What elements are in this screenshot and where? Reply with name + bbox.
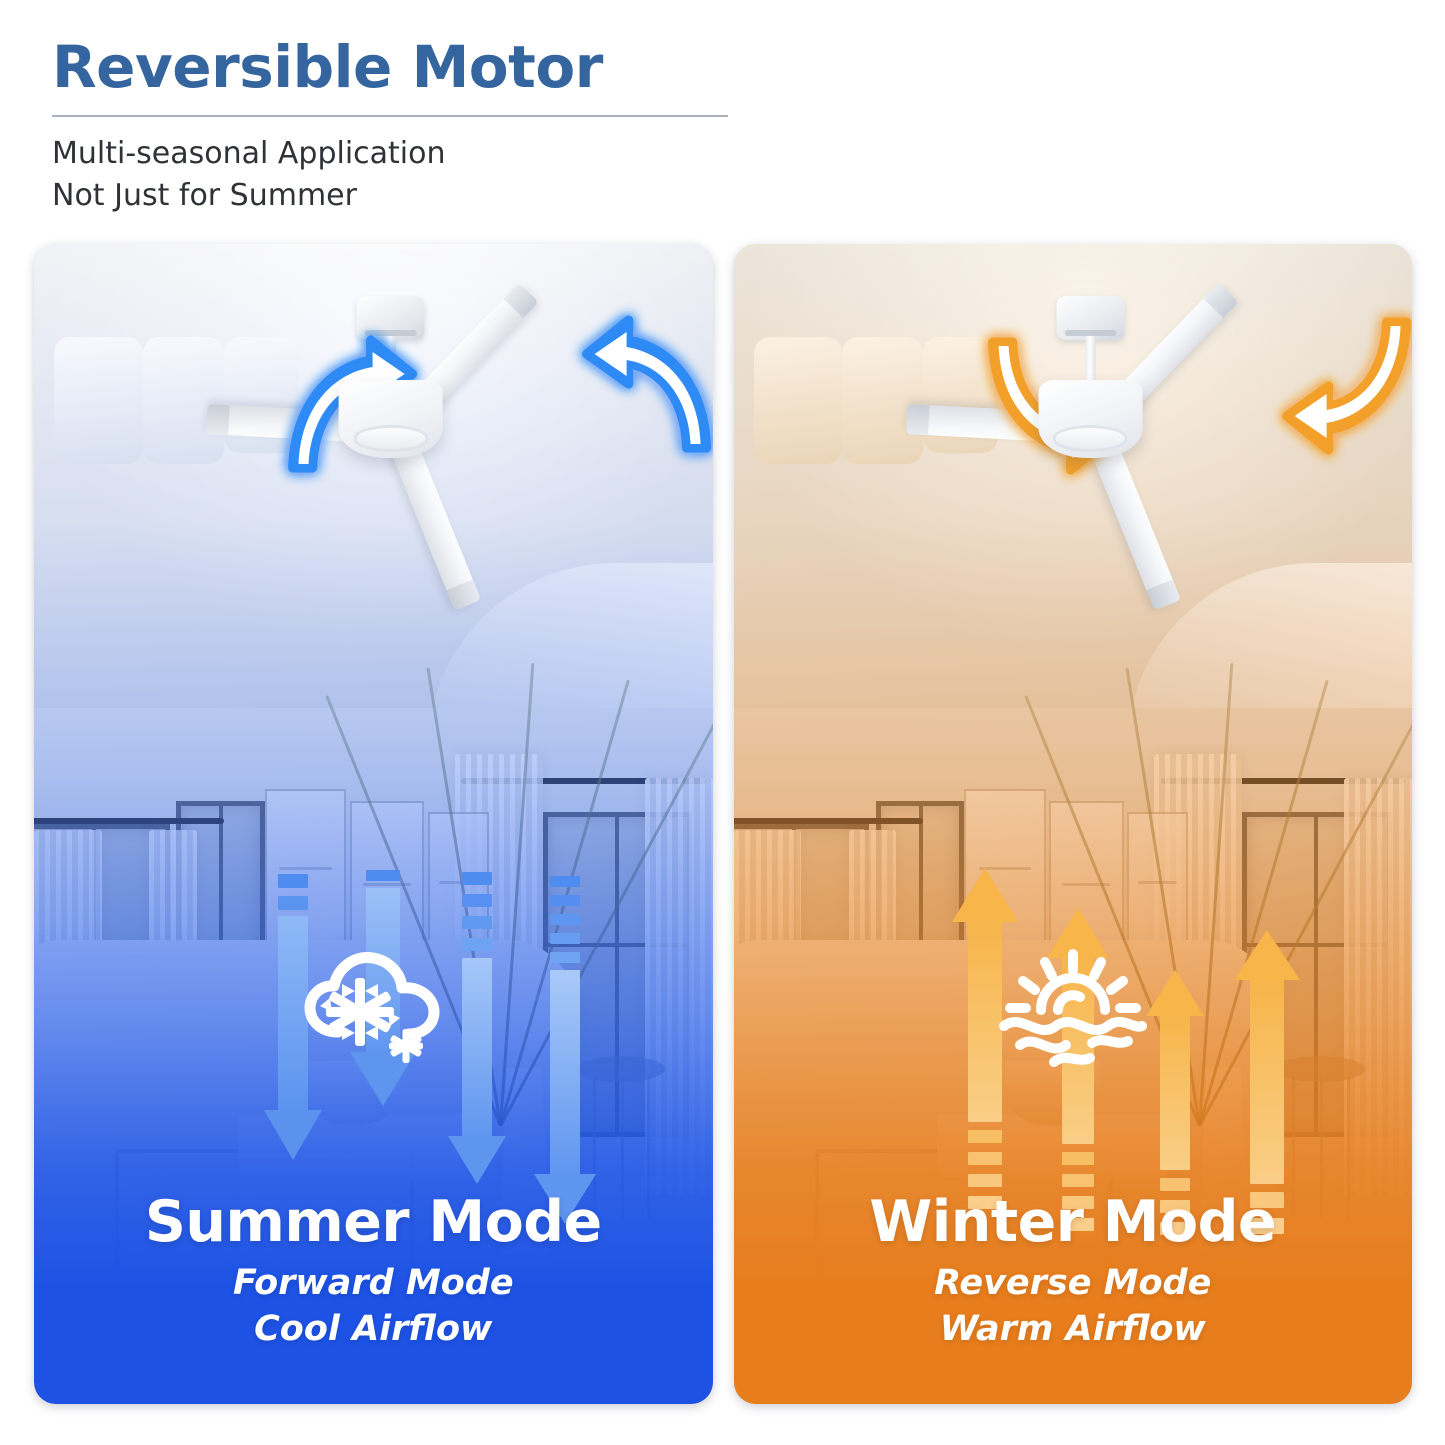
cushion-1 [54, 337, 142, 465]
mode-title: Summer Mode [34, 1191, 713, 1255]
subtitle-line-1: Multi-seasonal Application [52, 133, 1392, 176]
mode-comparison-panels: Summer Mode Forward Mode Cool Airflow [34, 244, 1412, 1404]
fan-motor-housing [339, 380, 443, 458]
rotation-arrow-right-icon [1274, 310, 1412, 460]
page-title: Reversible Motor [52, 36, 1392, 99]
cushion-1 [754, 337, 842, 465]
mode-sub-line-2: Cool Airflow [34, 1307, 713, 1353]
mode-sub-line-2: Warm Airflow [734, 1307, 1413, 1353]
header: Reversible Motor Multi-seasonal Applicat… [52, 36, 1392, 218]
winter-mode-panel[interactable]: Winter Mode Reverse Mode Warm Airflow [734, 244, 1413, 1404]
summer-mode-panel[interactable]: Summer Mode Forward Mode Cool Airflow [34, 244, 713, 1404]
curtain-rod-left [734, 818, 924, 824]
rotation-arrow-right-icon [575, 310, 713, 460]
snow-cloud-icon [298, 946, 448, 1070]
winter-mode-caption: Winter Mode Reverse Mode Warm Airflow [734, 1191, 1413, 1352]
mode-sub-line-1: Reverse Mode [734, 1261, 1413, 1307]
mode-title: Winter Mode [734, 1191, 1413, 1255]
ceiling-fan-forward [171, 288, 611, 588]
subtitle-block: Multi-seasonal Application Not Just for … [52, 133, 1392, 218]
summer-mode-caption: Summer Mode Forward Mode Cool Airflow [34, 1191, 713, 1352]
subtitle-line-2: Not Just for Summer [52, 175, 1392, 218]
winter-mode-icon-wrap [734, 946, 1413, 1074]
curtain-rod-left [34, 818, 224, 824]
title-divider [52, 115, 728, 117]
summer-mode-icon-wrap [34, 946, 713, 1074]
ceiling-fan-reverse [870, 288, 1310, 588]
sunrise-icon [998, 946, 1148, 1070]
mode-sub-line-1: Forward Mode [34, 1261, 713, 1307]
fan-motor-housing [1038, 380, 1142, 458]
